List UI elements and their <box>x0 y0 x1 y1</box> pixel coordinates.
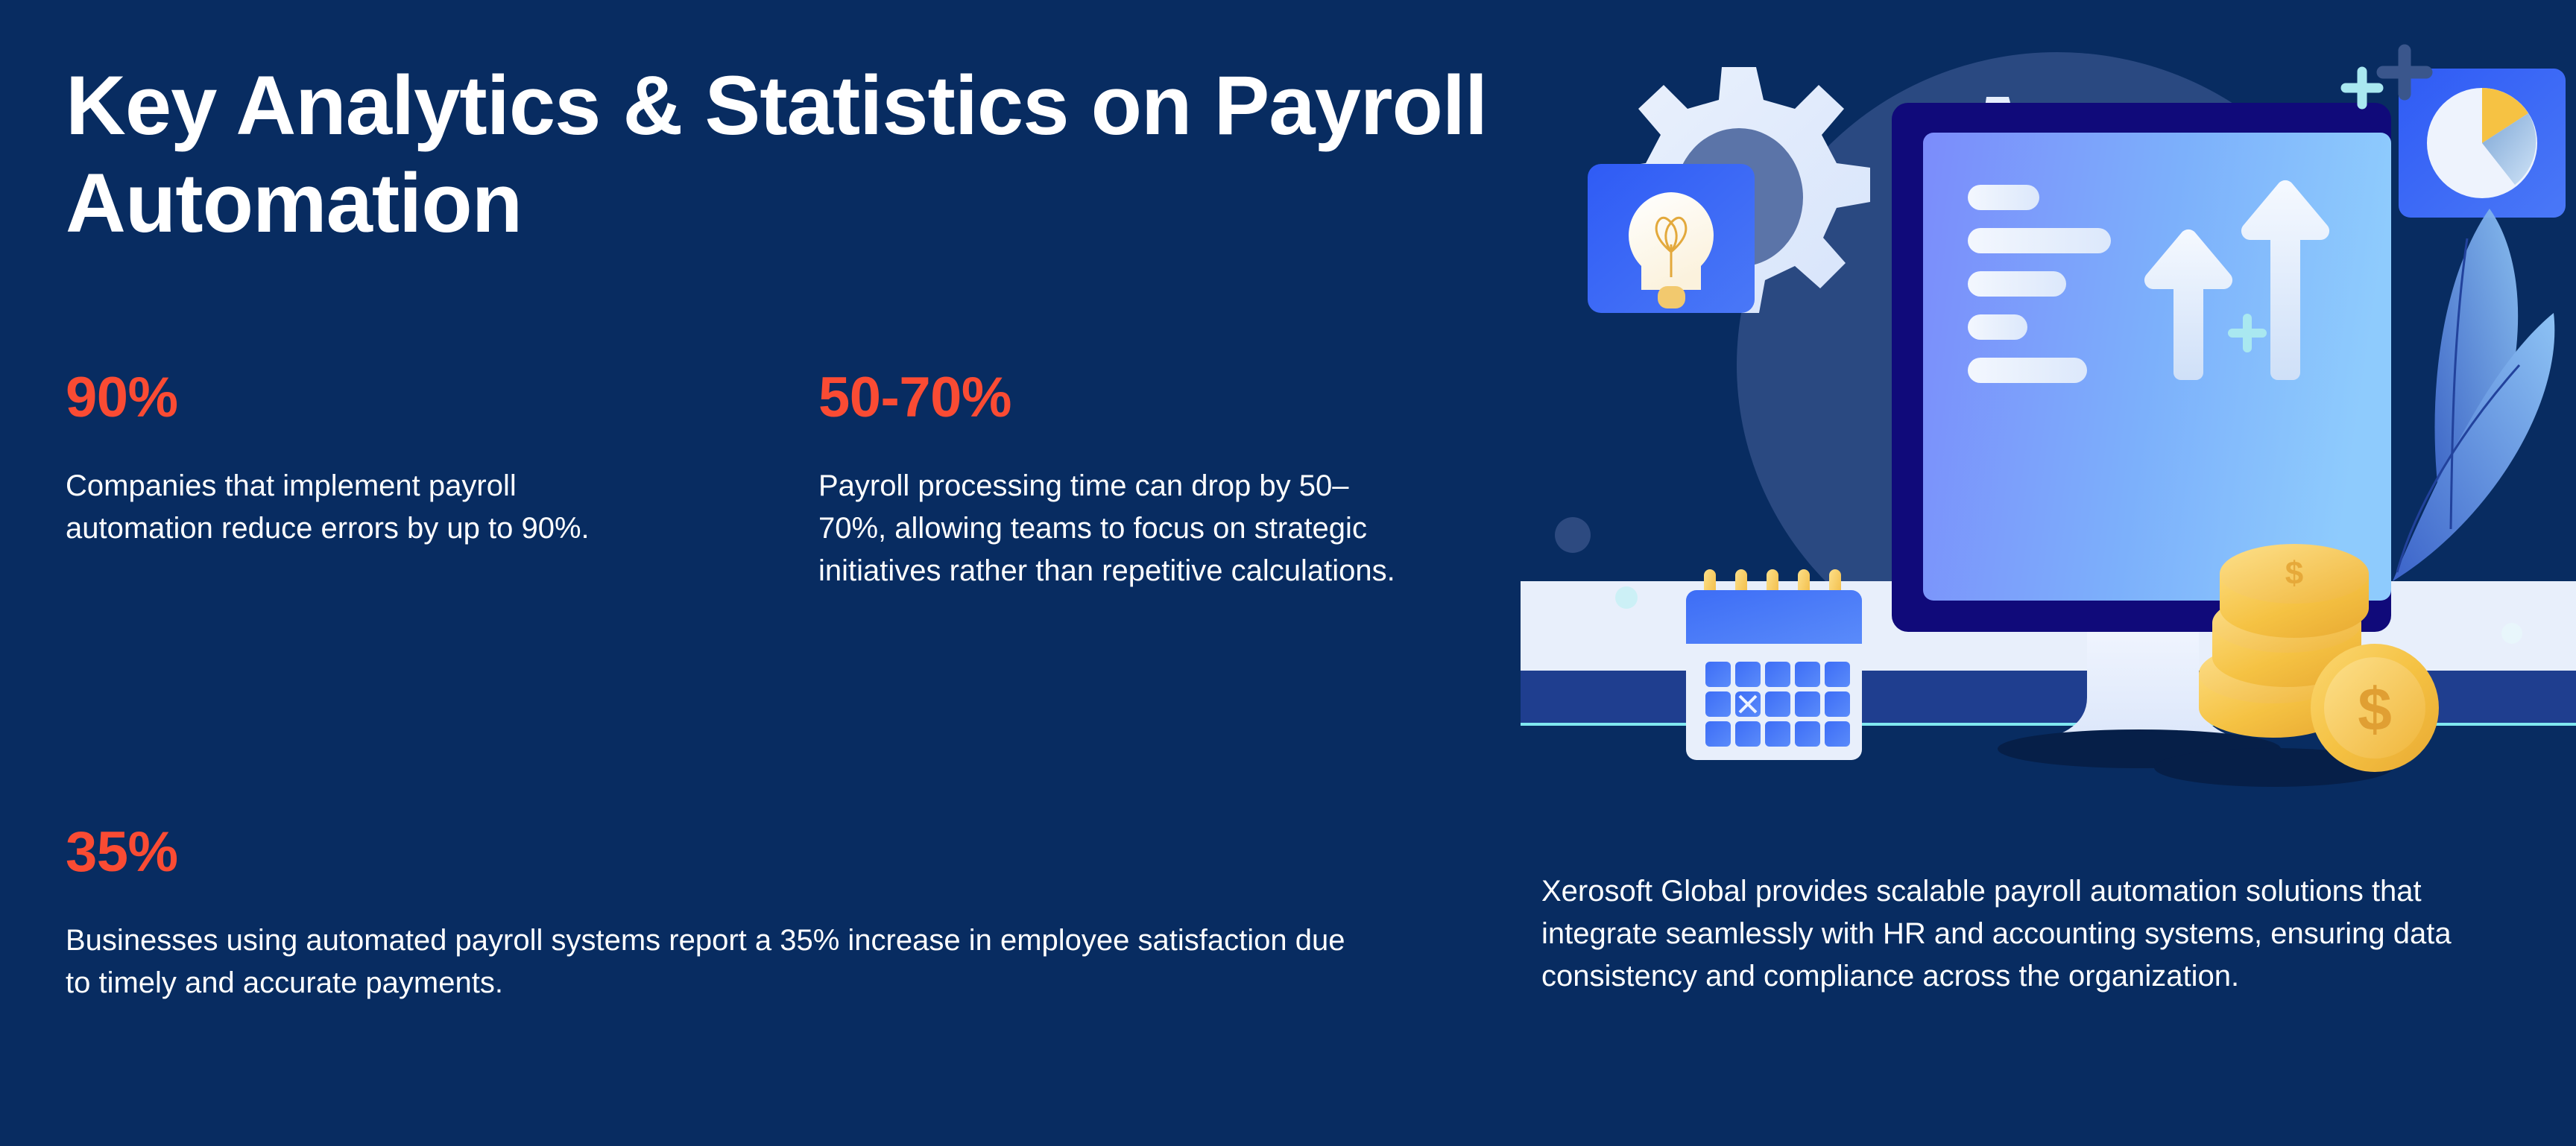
pie-chart-card <box>2399 69 2566 218</box>
payroll-automation-illustration: $ $ <box>1521 15 2576 820</box>
stats-row: 90% Companies that implement payroll aut… <box>66 370 1512 592</box>
slide-root: Key Analytics & Statistics on Payroll Au… <box>0 0 2576 1146</box>
stat-body-2: Payroll processing time can drop by 50–7… <box>818 465 1415 592</box>
svg-text:$: $ <box>2358 676 2392 744</box>
stat-block-1: 90% Companies that implement payroll aut… <box>66 370 818 592</box>
stat-block-2: 50-70% Payroll processing time can drop … <box>818 370 1474 592</box>
svg-text:$: $ <box>2285 555 2303 592</box>
stat-block-3: 35% Businesses using automated payroll s… <box>66 824 1407 1004</box>
coin-front: $ <box>2311 644 2439 772</box>
stat-number-3: 35% <box>66 824 1407 881</box>
stat-number-2: 50-70% <box>818 370 1474 426</box>
calendar-grid <box>1705 662 1850 747</box>
stat-body-1: Companies that implement payroll automat… <box>66 465 662 550</box>
left-content-column: Key Analytics & Statistics on Payroll Au… <box>66 57 1512 1100</box>
page-title: Key Analytics & Statistics on Payroll Au… <box>66 57 1504 252</box>
summary-paragraph: Xerosoft Global provides scalable payrol… <box>1541 870 2510 997</box>
lightbulb-card <box>1588 164 1755 313</box>
leaf-decoration <box>2393 209 2554 581</box>
stat-body-3: Businesses using automated payroll syste… <box>66 919 1348 1004</box>
calendar-icon <box>1686 569 1862 760</box>
stat-number-1: 90% <box>66 370 818 426</box>
